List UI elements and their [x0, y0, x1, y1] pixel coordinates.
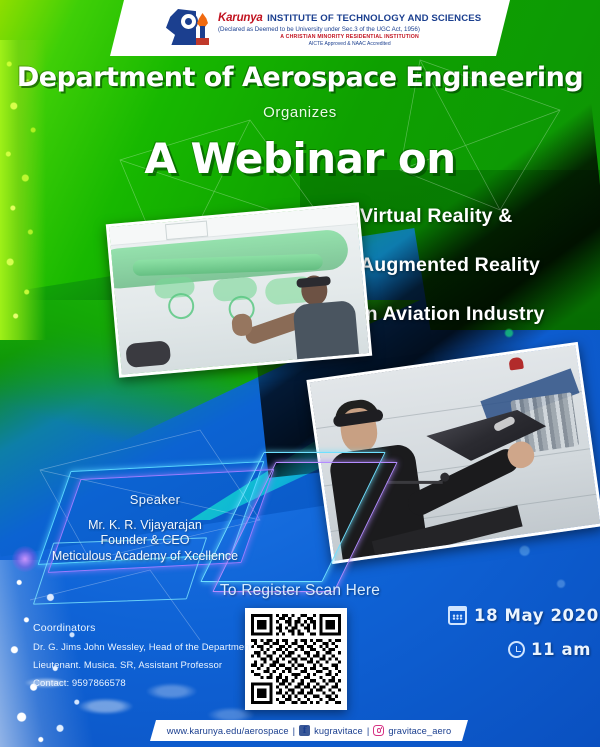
institute-minority-status: A CHRISTIAN MINORITY RESIDENTIAL INSTITU…: [218, 35, 481, 40]
institute-name: INSTITUTE OF TECHNOLOGY AND SCIENCES: [267, 13, 481, 24]
institute-header: Karunya INSTITUTE OF TECHNOLOGY AND SCIE…: [110, 0, 510, 56]
website-link[interactable]: www.karunya.edu/aerospace: [167, 726, 289, 736]
institute-declaration: (Declared as Deemed to be University und…: [218, 27, 481, 34]
footer-separator-2: |: [367, 726, 370, 736]
event-date: 18 May 2020: [448, 606, 599, 625]
topic-line-2: Augmented Reality: [360, 254, 600, 277]
facebook-icon[interactable]: f: [299, 725, 310, 736]
karunya-logo-icon: [166, 5, 212, 51]
webinar-topic: Virtual Reality & Augmented Reality In A…: [360, 205, 600, 352]
coordinator-1: Dr. G. Jims John Wessley, Head of the De…: [33, 642, 263, 653]
footer-links: www.karunya.edu/aerospace | f kugravitac…: [150, 720, 468, 741]
topic-line-1: Virtual Reality &: [360, 205, 600, 228]
coordinator-contact: Contact: 9597866578: [33, 678, 263, 689]
coordinator-2: Lieutenant. Musica. SR, Assistant Profes…: [33, 660, 263, 671]
coordinators-block: Coordinators Dr. G. Jims John Wessley, H…: [33, 622, 263, 696]
department-title: Department of Aerospace Engineering: [0, 62, 600, 93]
facebook-handle[interactable]: kugravitace: [314, 726, 363, 736]
qr-code-icon: [251, 614, 341, 704]
instagram-icon[interactable]: [373, 725, 384, 736]
coordinators-heading: Coordinators: [33, 622, 263, 634]
institute-brand: Karunya: [218, 12, 263, 24]
instagram-handle[interactable]: gravitace_aero: [388, 726, 451, 736]
speaker-name: Mr. K. R. Vijayarajan: [20, 518, 270, 533]
register-prompt: To Register Scan Here: [200, 582, 400, 600]
calendar-icon: [448, 606, 467, 625]
event-date-text: 18 May 2020: [474, 606, 599, 625]
institute-accreditation: AICTE Approved & NAAC Accredited: [218, 42, 481, 47]
clock-icon: [508, 641, 525, 658]
event-time-text: 11 am: [531, 640, 591, 659]
event-time: 11 am: [508, 640, 591, 659]
footer-separator-1: |: [293, 726, 296, 736]
speaker-organization: Meticulous Academy of Xcellence: [20, 549, 270, 564]
topic-line-3: In Aviation Industry: [360, 303, 600, 326]
event-title: A Webinar on: [0, 134, 600, 183]
speaker-designation: Founder & CEO: [20, 533, 270, 548]
speaker-details: Mr. K. R. Vijayarajan Founder & CEO Meti…: [20, 518, 270, 564]
speaker-heading: Speaker: [40, 492, 270, 507]
organizes-label: Organizes: [0, 104, 600, 121]
webinar-poster: Karunya INSTITUTE OF TECHNOLOGY AND SCIE…: [0, 0, 600, 747]
photo-ar-aircraft: [106, 202, 372, 378]
